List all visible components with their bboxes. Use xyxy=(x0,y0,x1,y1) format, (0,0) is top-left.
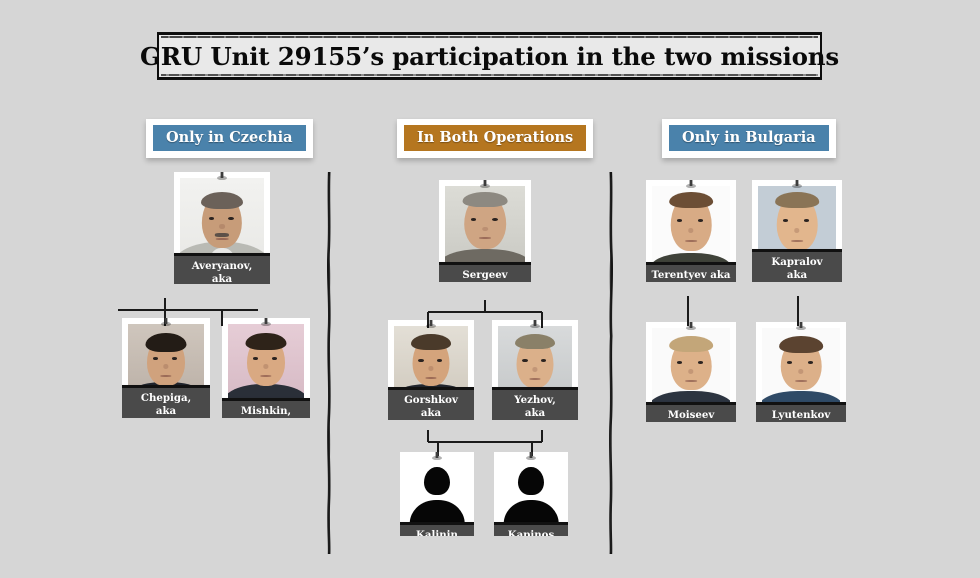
name-plate-kapinos: Kapinos xyxy=(494,522,568,536)
name-plate-sergeev: Sergeev aka “Fedotov” xyxy=(439,262,531,282)
column-header-czechia-label: Only in Czechia xyxy=(153,125,306,151)
silhouette-image xyxy=(406,458,468,530)
person-card-kapinos: Kapinos xyxy=(494,452,568,536)
photo-frame: Kapralov aka “Stepanov” xyxy=(752,180,842,282)
column-divider-left xyxy=(324,172,334,554)
person-card-sergeev: Sergeev aka “Fedotov” xyxy=(439,180,531,282)
connector-both-tier1-to-tier2 xyxy=(380,300,590,330)
photo-frame: Moiseev aka “Popov” xyxy=(646,322,736,422)
name-plate-moiseev: Moiseev aka “Popov” xyxy=(646,402,736,422)
name-plate-chepiga: Chepiga, aka “Boshirov” xyxy=(122,385,210,418)
torn-divider-icon xyxy=(606,172,616,554)
person-card-moiseev: Moiseev aka “Popov” xyxy=(646,322,736,422)
torn-divider-icon xyxy=(324,172,334,554)
photo-frame: Gorshkov aka “Gordienko” xyxy=(388,320,474,420)
person-card-yezhov: Yezhov, aka “Kononikhin” xyxy=(492,320,578,420)
photo-frame: Kapinos xyxy=(494,452,568,536)
name-plate-mishkin: Mishkin, aka “Petrov” xyxy=(222,398,310,418)
name-plate-yezhov: Yezhov, aka “Kononikhin” xyxy=(492,387,578,420)
connector-both-tier2-to-tier3 xyxy=(390,430,580,458)
column-header-both-operations: In Both Operations xyxy=(397,119,593,158)
name-plate-gorshkov: Gorshkov aka “Gordienko” xyxy=(388,387,474,420)
name-plate-lyutenkov: Lyutenkov aka “Pavlov” xyxy=(756,402,846,422)
column-header-czechia: Only in Czechia xyxy=(146,119,313,158)
photo-frame: Lyutenkov aka “Pavlov” xyxy=(756,322,846,422)
infographic-canvas: GRU Unit 29155’s participation in the tw… xyxy=(0,0,980,578)
photo-frame: Averyanov, aka “Overyanov” xyxy=(174,172,270,284)
name-plate-kalinin: Kalinin xyxy=(400,522,474,536)
photo-frame: Sergeev aka “Fedotov” xyxy=(439,180,531,282)
silhouette-image xyxy=(500,458,562,530)
photo-frame: Yezhov, aka “Kononikhin” xyxy=(492,320,578,420)
column-header-bulgaria-label: Only in Bulgaria xyxy=(669,125,829,151)
photo-frame: Mishkin, aka “Petrov” xyxy=(222,318,310,418)
person-card-terentyev: Terentyev aka “Lebedev” xyxy=(646,180,736,282)
person-card-gorshkov: Gorshkov aka “Gordienko” xyxy=(388,320,474,420)
column-divider-right xyxy=(606,172,616,554)
photo-frame: Kalinin xyxy=(400,452,474,536)
photo-frame: Terentyev aka “Lebedev” xyxy=(646,180,736,282)
person-card-kalinin: Kalinin xyxy=(400,452,474,536)
person-card-chepiga: Chepiga, aka “Boshirov” xyxy=(122,318,210,418)
name-plate-averyanov: Averyanov, aka “Overyanov” xyxy=(174,253,270,284)
person-card-averyanov: Averyanov, aka “Overyanov” xyxy=(174,172,270,284)
name-plate-terentyev: Terentyev aka “Lebedev” xyxy=(646,262,736,282)
person-card-mishkin: Mishkin, aka “Petrov” xyxy=(222,318,310,418)
page-title-box: GRU Unit 29155’s participation in the tw… xyxy=(157,33,822,79)
connector-czechia-tier1-to-tier2 xyxy=(110,296,310,330)
column-header-bulgaria: Only in Bulgaria xyxy=(662,119,836,158)
photo-frame: Chepiga, aka “Boshirov” xyxy=(122,318,210,418)
connector-bulgaria-tier1-to-tier2 xyxy=(630,296,850,330)
page-title: GRU Unit 29155’s participation in the tw… xyxy=(140,42,839,71)
person-card-lyutenkov: Lyutenkov aka “Pavlov” xyxy=(756,322,846,422)
name-plate-kapralov: Kapralov aka “Stepanov” xyxy=(752,249,842,282)
person-card-kapralov: Kapralov aka “Stepanov” xyxy=(752,180,842,282)
column-header-both-operations-label: In Both Operations xyxy=(404,125,586,151)
